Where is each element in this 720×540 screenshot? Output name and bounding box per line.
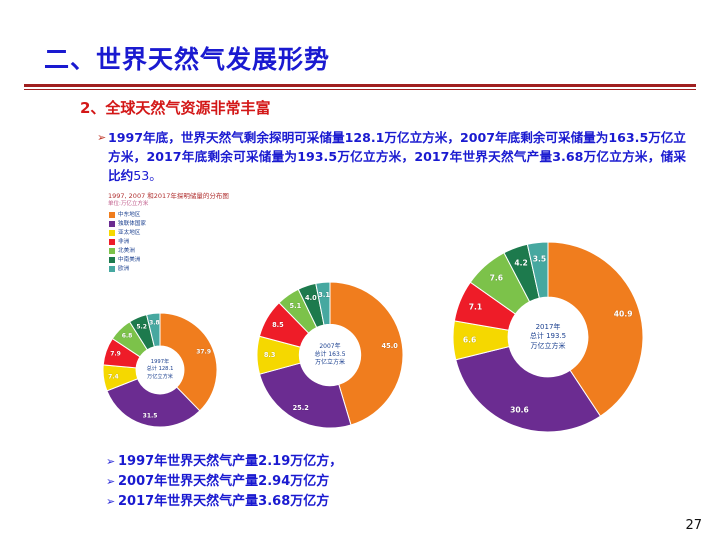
list-item: ➢2007年世界天然气产量2.94万亿方: [106, 472, 342, 492]
pie-slice-value: 6.8: [122, 333, 133, 340]
list-item-label: 2017年世界天然气产量3.68万亿方: [118, 494, 329, 509]
legend-label: 中东地区: [118, 211, 140, 219]
pie-slice-value: 45.0: [382, 342, 398, 350]
legend-swatch-icon: [109, 266, 115, 272]
pie-slice-value: 6.6: [463, 335, 476, 344]
legend-label: 北美洲: [118, 247, 135, 255]
pie-slice: [456, 347, 601, 432]
legend-item: 独联体国家: [109, 220, 146, 228]
pie-slice-value: 7.6: [490, 273, 503, 282]
chart-legend: 中东地区独联体国家亚太地区非洲北美洲中南美洲欧洲: [109, 211, 146, 274]
legend-label: 亚太地区: [118, 229, 140, 237]
pie-slice-value: 7.9: [110, 351, 121, 358]
chart-caption-line1: 1997, 2007 和2017年探明储量的分布图: [108, 192, 229, 200]
legend-label: 中南美洲: [118, 256, 140, 264]
title-rule-thin: [24, 89, 696, 90]
list-bullet-icon: ➢: [106, 492, 115, 512]
list-bullet-icon: ➢: [106, 452, 115, 472]
slide-canvas: 二、世界天然气发展形势 2、全球天然气资源非常丰富 ➢1997年底，世界天然气剩…: [0, 0, 720, 540]
paragraph-text: 1997年底，世界天然气剩余探明可采储量128.1万亿立方米，2007年底剩余可…: [108, 130, 686, 183]
list-item: ➢2017年世界天然气产量3.68万亿方: [106, 492, 342, 512]
pie-slice-value: 4.0: [305, 294, 317, 302]
body-paragraph: ➢1997年底，世界天然气剩余探明可采储量128.1万亿立方米，2007年底剩余…: [108, 128, 686, 185]
section-heading: 2、全球天然气资源非常丰富: [80, 97, 270, 118]
legend-item: 欧洲: [109, 265, 146, 273]
legend-swatch-icon: [109, 212, 115, 218]
list-item: ➢1997年世界天然气产量2.19万亿方，: [106, 452, 342, 472]
pie-slice-value: 4.2: [514, 259, 527, 268]
title-rule-thick: [24, 84, 696, 87]
legend-item: 北美洲: [109, 247, 146, 255]
page-number: 27: [685, 518, 702, 533]
list-bullet-icon: ➢: [106, 472, 115, 492]
pie-slice-value: 40.9: [614, 310, 633, 319]
pie-slice-value: 31.5: [143, 413, 158, 420]
pie-slice-value: 8.5: [272, 321, 284, 329]
legend-label: 独联体国家: [118, 220, 146, 228]
chart-caption-line2: 单位:万亿立方米: [108, 200, 229, 208]
donut-chart: 45.025.28.38.55.14.03.12007年总计 163.5万亿立方…: [255, 280, 405, 430]
list-item-label: 2007年世界天然气产量2.94万亿方: [118, 474, 329, 489]
page-title: 二、世界天然气发展形势: [44, 40, 330, 76]
donut-chart: 40.930.66.67.17.64.23.52017年总计 193.5万亿立方…: [451, 240, 645, 434]
legend-item: 非洲: [109, 238, 146, 246]
paragraph-tail: 53。: [133, 168, 162, 183]
legend-swatch-icon: [109, 239, 115, 245]
legend-item: 中东地区: [109, 211, 146, 219]
legend-item: 中南美洲: [109, 256, 146, 264]
pie-slice-value: 3.8: [149, 320, 160, 327]
pie-slice: [260, 363, 351, 428]
legend-swatch-icon: [109, 230, 115, 236]
legend-swatch-icon: [109, 257, 115, 263]
pie-slice-value: 3.5: [533, 254, 546, 263]
list-item-label: 1997年世界天然气产量2.19万亿方，: [118, 454, 342, 469]
pie-slice-value: 25.2: [293, 404, 309, 412]
pie-slice-value: 7.1: [469, 302, 482, 311]
paragraph-bullet-icon: ➢: [97, 128, 106, 147]
donut-chart: 37.931.57.47.96.85.23.81997年总计 128.1万亿立方…: [101, 311, 219, 429]
pie-slice-value: 3.1: [318, 291, 330, 299]
legend-item: 亚太地区: [109, 229, 146, 237]
pie-slice-value: 5.1: [290, 302, 302, 310]
pie-slice-value: 37.9: [196, 349, 211, 356]
legend-label: 欧洲: [118, 265, 129, 273]
bottom-bullet-list: ➢1997年世界天然气产量2.19万亿方，➢2007年世界天然气产量2.94万亿…: [106, 452, 342, 512]
chart-caption: 1997, 2007 和2017年探明储量的分布图 单位:万亿立方米: [108, 192, 229, 208]
legend-swatch-icon: [109, 248, 115, 254]
pie-slice-value: 5.2: [136, 323, 147, 330]
pie-slice-value: 8.3: [264, 351, 276, 359]
pie-slice-value: 30.6: [510, 406, 529, 415]
legend-swatch-icon: [109, 221, 115, 227]
legend-label: 非洲: [118, 238, 129, 246]
pie-slice-value: 7.4: [108, 373, 119, 380]
